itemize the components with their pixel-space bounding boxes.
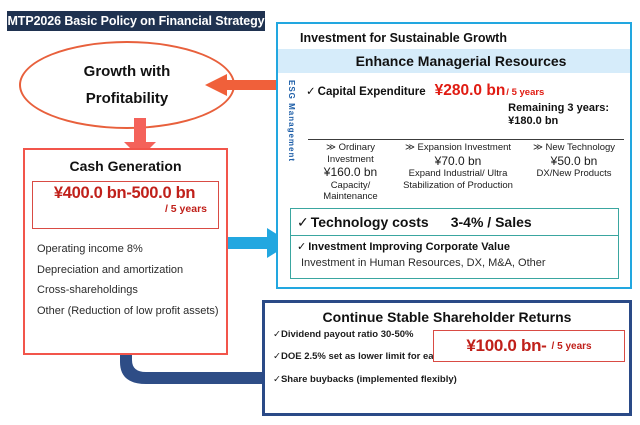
investment-column-expansion: ≫ Expansion Investment ¥70.0 bn Expand I… — [397, 142, 519, 203]
column-value: ¥50.0 bn — [519, 154, 629, 169]
column-heading: ≫ Expansion Investment — [397, 142, 519, 154]
columns-divider — [308, 139, 624, 140]
column-value: ¥160.0 bn — [304, 165, 397, 180]
column-heading: ≫ New Technology — [519, 142, 629, 154]
esg-management-label: ESG Management — [280, 80, 302, 165]
investment-body: ✓ Capital Expenditure ¥280.0 bn / 5 year… — [304, 82, 629, 100]
investment-columns: ≫ Ordinary Investment ¥160.0 bn Capacity… — [304, 142, 629, 203]
share-buybacks-text: Share buybacks (implemented flexibly) — [281, 374, 457, 385]
check-icon: ✓ — [273, 351, 281, 362]
corporate-value-line-1: ✓Investment Improving Corporate Value — [297, 240, 618, 253]
investment-column-new-technology: ≫ New Technology ¥50.0 bn DX/New Product… — [519, 142, 629, 203]
check-icon: ✓ — [273, 374, 281, 385]
technology-costs-value: 3-4% / Sales — [451, 214, 532, 230]
check-icon: ✓ — [297, 241, 306, 253]
corporate-value-heading: Investment Improving Corporate Value — [308, 241, 510, 253]
cash-driver-list: Operating income 8% Depreciation and amo… — [37, 242, 226, 318]
column-note: DX/New Products — [519, 168, 629, 180]
column-note: Expand Industrial/ Ultra Stabilization o… — [397, 168, 519, 191]
technology-costs-box: ✓ Technology costs 3-4% / Sales — [290, 208, 619, 236]
shareholder-returns-box: Continue Stable Shareholder Returns ✓Div… — [262, 300, 632, 416]
technology-costs-label: Technology costs — [311, 214, 429, 230]
check-icon: ✓ — [306, 84, 316, 98]
page-title: MTP2026 Basic Policy on Financial Strate… — [7, 11, 265, 31]
capex-period: / 5 years — [506, 87, 544, 98]
vision-line-2: Profitability — [86, 91, 169, 106]
shareholder-amount-period: / 5 years — [552, 341, 592, 352]
arrow-left-orange-icon — [205, 72, 285, 98]
corporate-value-box: ✓Investment Improving Corporate Value In… — [290, 235, 619, 279]
cash-generation-title: Cash Generation — [25, 158, 226, 174]
corporate-value-line-2: Investment in Human Resources, DX, M&A, … — [297, 257, 618, 269]
esg-management-text: ESG Management — [286, 80, 296, 162]
column-heading: ≫ Ordinary Investment — [304, 142, 397, 165]
remaining-years-note: Remaining 3 years: ¥180.0 bn — [508, 102, 609, 128]
vision-line-1: Growth with — [84, 64, 171, 79]
vision-ellipse: Growth with Profitability — [19, 41, 235, 129]
investment-panel-band: Enhance Managerial Resources — [278, 49, 630, 73]
shareholder-returns-title: Continue Stable Shareholder Returns — [265, 309, 629, 325]
check-icon: ✓ — [297, 214, 309, 231]
column-value: ¥70.0 bn — [397, 154, 519, 169]
list-item: Operating income 8% — [37, 242, 226, 257]
cash-generation-box: Cash Generation ¥400.0 bn-500.0 bn / 5 y… — [23, 148, 228, 355]
slide-canvas: MTP2026 Basic Policy on Financial Strate… — [0, 0, 640, 425]
cash-amount-box: ¥400.0 bn-500.0 bn / 5 years — [32, 181, 219, 229]
capex-label: Capital Expenditure — [318, 86, 426, 98]
capital-expenditure-row: ✓ Capital Expenditure ¥280.0 bn / 5 year… — [304, 82, 629, 100]
dividend-payout-text: Dividend payout ratio 30-50% — [281, 329, 414, 340]
capex-value: ¥280.0 bn — [435, 82, 506, 100]
shareholder-amount-value: ¥100.0 bn- — [466, 336, 546, 356]
shareholder-line-3: ✓Share buybacks (implemented flexibly) — [273, 374, 629, 385]
shareholder-amount-box: ¥100.0 bn- / 5 years — [433, 330, 625, 362]
remaining-line-2: ¥180.0 bn — [508, 115, 609, 128]
cash-amount-period: / 5 years — [39, 203, 210, 215]
remaining-line-1: Remaining 3 years: — [508, 102, 609, 115]
list-item: Depreciation and amortization — [37, 263, 226, 278]
cash-amount-value: ¥400.0 bn-500.0 bn — [39, 185, 210, 202]
investment-panel-header: Investment for Sustainable Growth — [278, 24, 630, 49]
investment-column-ordinary: ≫ Ordinary Investment ¥160.0 bn Capacity… — [304, 142, 397, 203]
investment-panel: Investment for Sustainable Growth Enhanc… — [276, 22, 632, 289]
check-icon: ✓ — [273, 329, 281, 340]
list-item: Cross-shareholdings — [37, 283, 226, 298]
column-note: Capacity/ Maintenance — [304, 180, 397, 203]
list-item: Other (Reduction of low profit assets) — [37, 304, 226, 319]
